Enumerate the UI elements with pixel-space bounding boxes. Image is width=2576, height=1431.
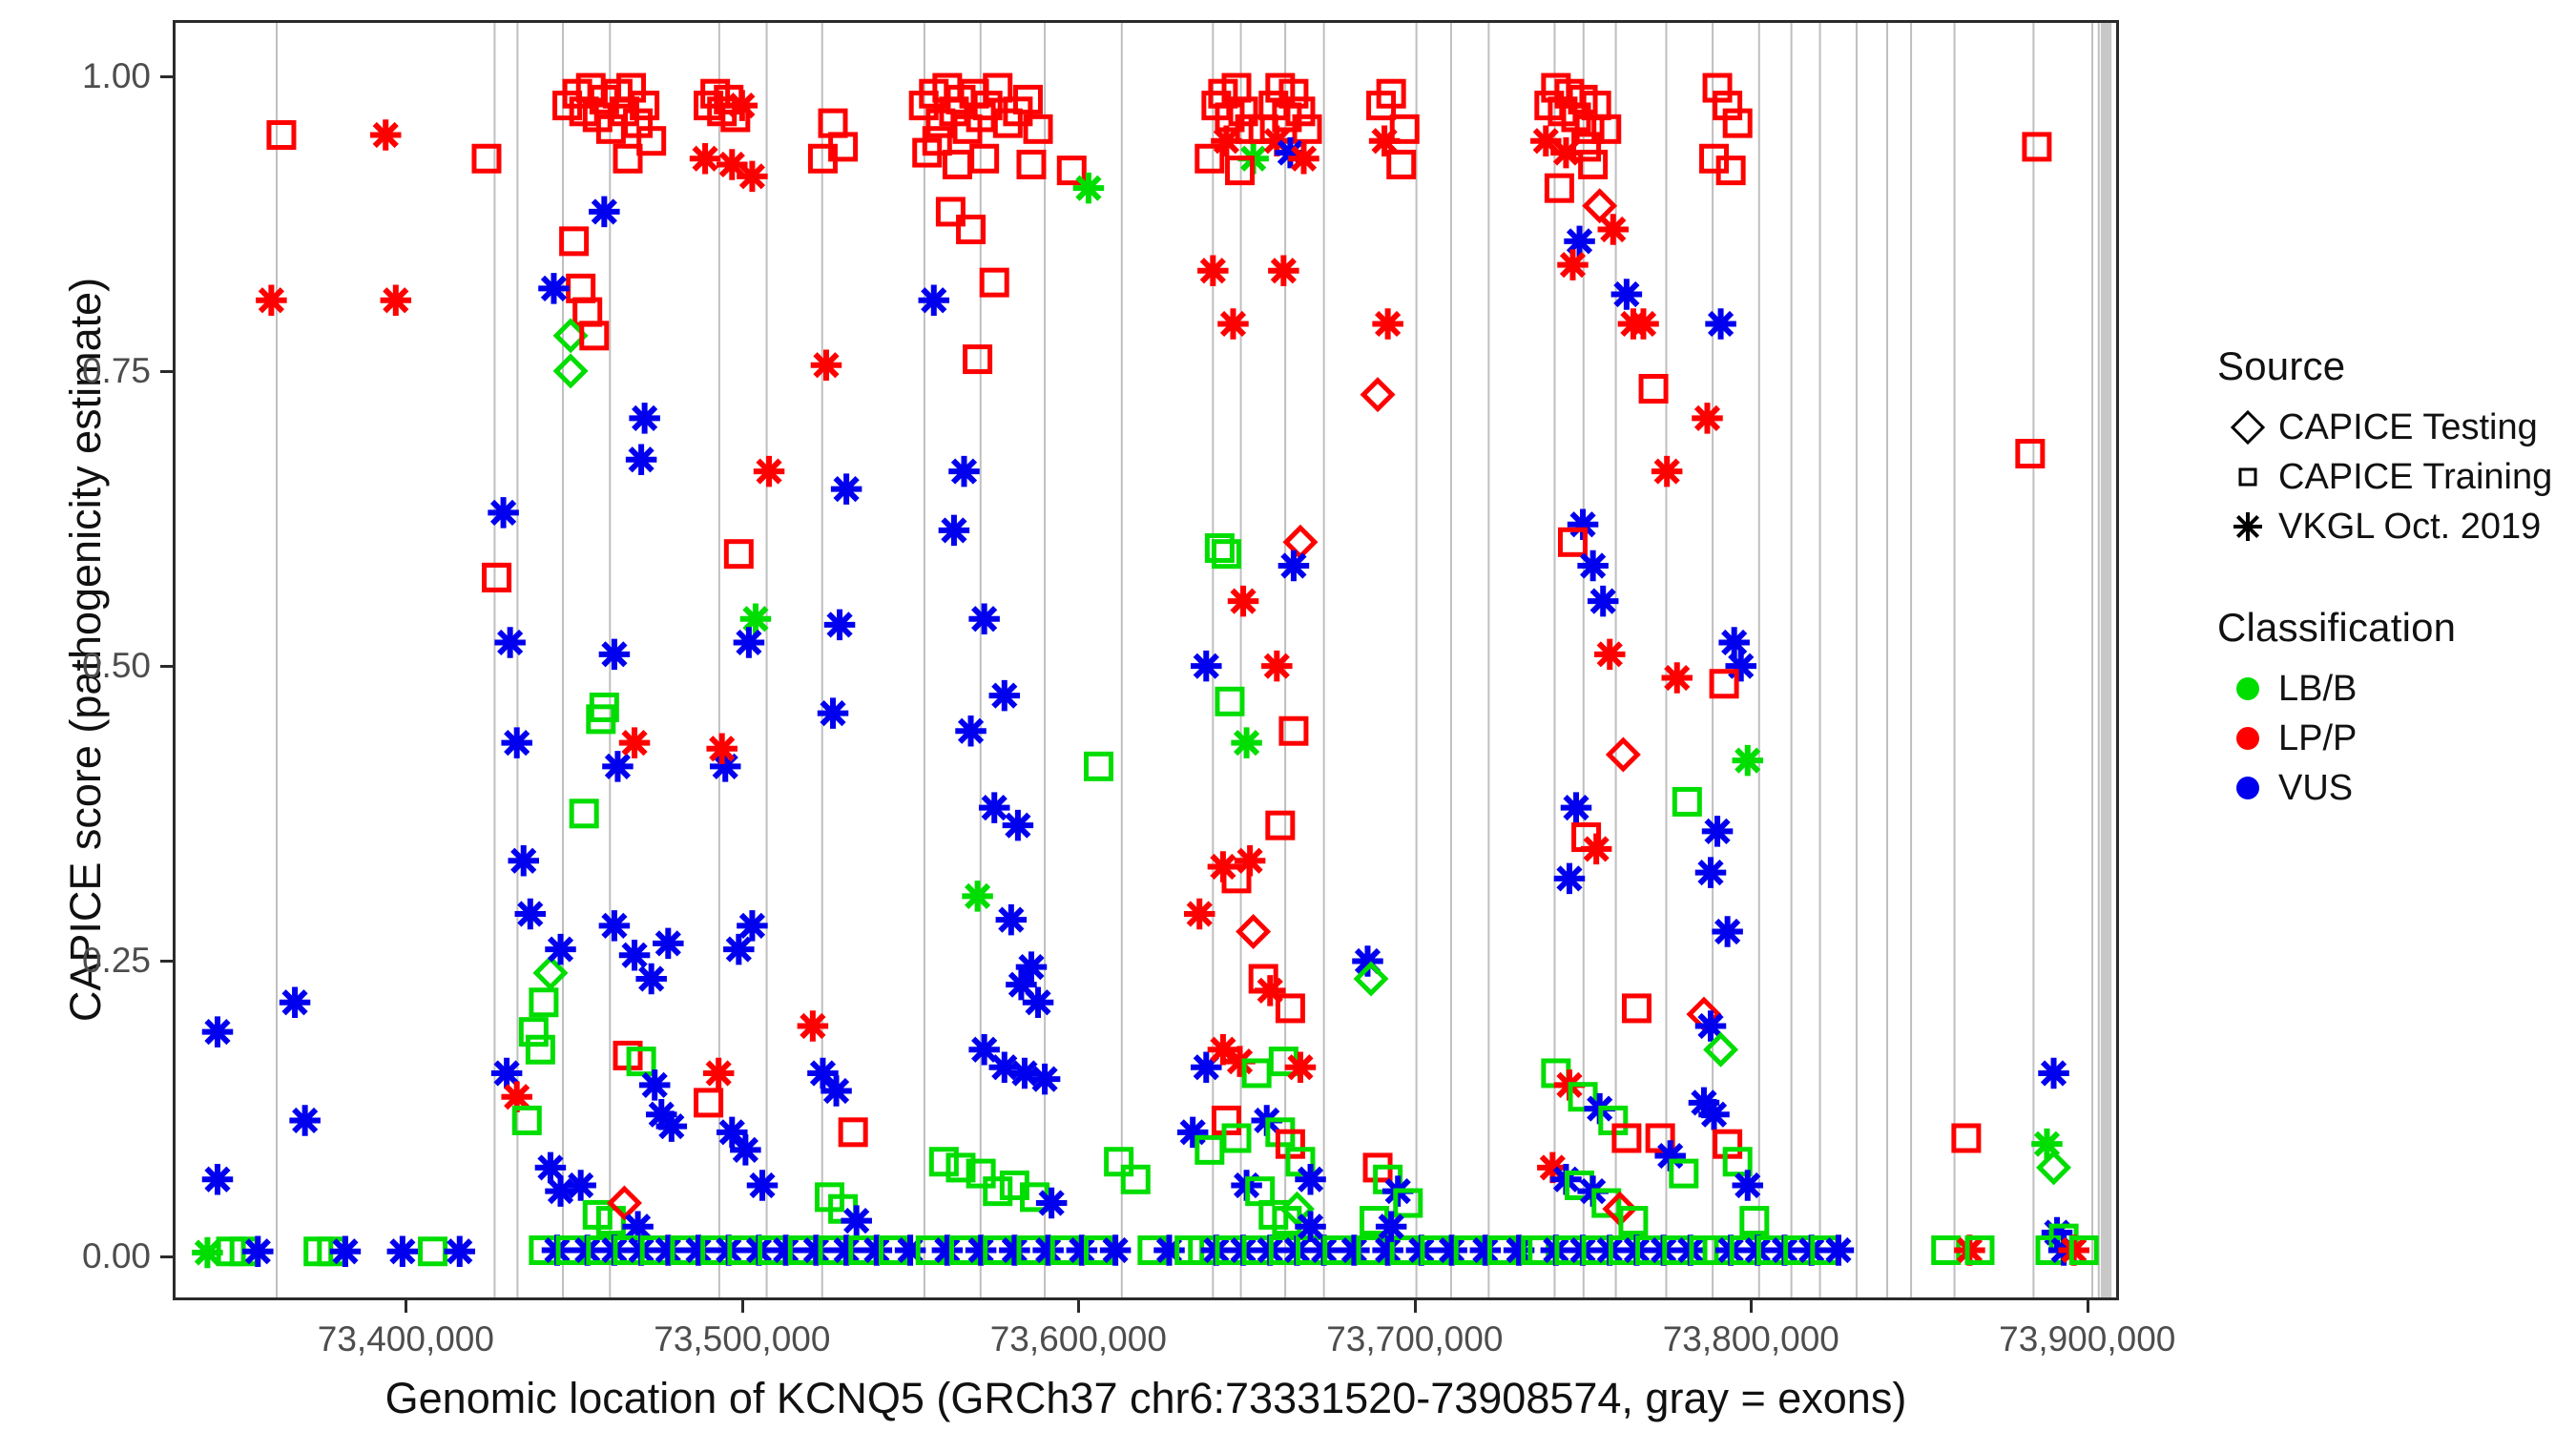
y-tick-mark <box>160 370 173 373</box>
scatter-point <box>531 990 556 1015</box>
scatter-point <box>521 1020 546 1045</box>
scatter-point <box>569 276 593 301</box>
scatter-point <box>1217 689 1242 714</box>
scatter-point <box>706 734 737 765</box>
scatter-point <box>599 910 631 942</box>
scatter-point <box>1672 1161 1696 1186</box>
scatter-point <box>727 90 758 121</box>
scatter-point <box>619 940 651 971</box>
scatter-point <box>1239 918 1268 946</box>
x-tick-label: 73,600,000 <box>935 1321 1221 1357</box>
x-tick-label: 73,900,000 <box>1944 1321 2231 1357</box>
scatter-point <box>1611 279 1643 310</box>
scatter-point <box>1598 214 1630 245</box>
scatter-point <box>1577 550 1609 582</box>
scatter-point <box>1073 173 1105 204</box>
scatter-point <box>703 1058 735 1089</box>
square-icon <box>2226 455 2270 499</box>
scatter-point <box>1278 550 1310 582</box>
scatter-point <box>831 473 862 505</box>
legend-item[interactable]: VUS <box>2217 763 2576 813</box>
scatter-point <box>1588 586 1619 617</box>
legend-key <box>2217 716 2278 760</box>
scatter-point <box>1695 857 1727 888</box>
scatter-point <box>1652 456 1683 487</box>
scatter-point <box>1392 116 1417 141</box>
scatter-point <box>1295 1164 1326 1195</box>
scatter-point <box>575 300 600 324</box>
legend-key <box>2217 766 2278 810</box>
chart-legend: SourceCAPICE TestingCAPICE TrainingVKGL … <box>2194 343 2576 866</box>
scatter-point <box>602 751 634 782</box>
y-tick-mark <box>160 960 173 963</box>
y-tick-label: 0.25 <box>0 943 151 978</box>
scatter-point <box>1255 975 1286 1006</box>
y-tick-mark <box>160 1255 173 1258</box>
legend-group-source: SourceCAPICE TestingCAPICE TrainingVKGL … <box>2194 343 2576 551</box>
dot-icon <box>2226 716 2270 760</box>
scatter-point <box>968 603 1000 634</box>
scatter-point <box>1823 1234 1855 1266</box>
scatter-point <box>1586 192 1614 220</box>
scatter-point <box>1641 376 1666 401</box>
scatter-point <box>1954 1126 1979 1151</box>
x-tick-mark <box>405 1300 407 1313</box>
scatter-point <box>1184 899 1215 930</box>
scatter-point <box>653 928 684 960</box>
scatter-point <box>571 801 596 826</box>
scatter-point <box>945 152 969 176</box>
scatter-point <box>1554 863 1586 895</box>
scatter-point <box>747 1170 779 1201</box>
scatter-point <box>1003 810 1034 841</box>
scatter-point <box>1564 226 1595 258</box>
scatter-point <box>1261 651 1293 682</box>
scatter-point <box>737 161 768 193</box>
legend-item-label: VUS <box>2278 768 2353 809</box>
scatter-point <box>1107 1150 1132 1174</box>
scatter-point <box>726 542 751 567</box>
scatter-point <box>538 273 570 304</box>
legend-key <box>2217 405 2278 449</box>
scatter-point <box>1295 1212 1326 1243</box>
scatter-point <box>1712 916 1743 947</box>
scatter-point <box>1372 308 1403 340</box>
scatter-point <box>202 1164 234 1195</box>
scatter-point <box>1268 256 1299 287</box>
scatter-point <box>1036 1188 1068 1219</box>
scatter-point <box>615 146 640 171</box>
legend-group-classification: ClassificationLB/BLP/PVUS <box>2194 605 2576 813</box>
legend-item-label: CAPICE Training <box>2278 457 2552 498</box>
scatter-point <box>256 284 287 316</box>
legend-item[interactable]: VKGL Oct. 2019 <box>2217 502 2576 551</box>
scatter-point <box>494 627 526 658</box>
legend-item[interactable]: LP/P <box>2217 714 2576 763</box>
scatter-point <box>996 904 1028 936</box>
x-tick-mark <box>1414 1300 1417 1313</box>
scatter-point <box>811 349 842 381</box>
plot-area <box>173 20 2119 1300</box>
scatter-point <box>626 444 657 475</box>
legend-key <box>2217 505 2278 549</box>
legend-item-label: CAPICE Testing <box>2278 407 2538 448</box>
x-tick-mark <box>1077 1300 1080 1313</box>
scatter-point <box>798 1010 829 1042</box>
chart-page: CAPICE score (pathogenicity estimate) 0.… <box>0 0 2576 1431</box>
scatter-point <box>1725 651 1756 682</box>
scatter-point <box>919 284 950 316</box>
scatter-point <box>1389 152 1414 176</box>
diamond-icon <box>2226 405 2270 449</box>
scatter-point <box>1231 727 1262 758</box>
scatter-point <box>1268 813 1293 838</box>
scatter-canvas <box>176 23 2116 1297</box>
scatter-point <box>1019 152 1044 176</box>
scatter-point <box>1191 651 1222 682</box>
scatter-point <box>754 456 785 487</box>
scatter-point <box>2018 442 2043 467</box>
scatter-point <box>2040 1153 2068 1182</box>
x-tick-label: 73,700,000 <box>1272 1321 1558 1357</box>
scatter-point <box>1557 249 1589 280</box>
scatter-point <box>1086 754 1111 778</box>
scatter-point <box>589 197 620 228</box>
scatter-point <box>841 1120 865 1145</box>
scatter-point <box>734 627 765 658</box>
dot-icon <box>2226 766 2270 810</box>
scatter-point <box>989 680 1021 712</box>
scatter-point <box>1628 308 1659 340</box>
y-tick-label: 0.00 <box>0 1238 151 1274</box>
x-axis-title: Genomic location of KCNQ5 (GRCh37 chr6:7… <box>173 1374 2119 1423</box>
scatter-point <box>723 934 755 965</box>
scatter-point <box>1285 1052 1317 1084</box>
scatter-point <box>1594 639 1626 671</box>
scatter-point <box>824 610 856 641</box>
scatter-point <box>2038 1058 2069 1089</box>
scatter-point <box>1547 176 1571 200</box>
y-tick-mark <box>160 665 173 668</box>
x-tick-label: 73,400,000 <box>262 1321 549 1357</box>
scatter-point <box>562 229 587 254</box>
x-tick-mark <box>1750 1300 1753 1313</box>
scatter-point <box>528 1037 552 1062</box>
scatter-point <box>1228 586 1259 617</box>
scatter-point <box>1624 996 1649 1021</box>
scatter-point <box>1698 1099 1730 1130</box>
exon-band <box>2101 23 2111 1297</box>
scatter-point <box>948 456 980 487</box>
x-tick-mark <box>2087 1300 2089 1313</box>
scatter-point <box>1550 137 1582 169</box>
scatter-point <box>1742 1209 1767 1234</box>
scatter-point <box>269 123 294 148</box>
scatter-point <box>979 792 1010 823</box>
scatter-point <box>545 934 576 965</box>
legend-title-classification: Classification <box>2217 605 2576 651</box>
scatter-point <box>1235 845 1266 877</box>
scatter-point <box>387 1236 419 1268</box>
scatter-point <box>619 727 651 758</box>
legend-item[interactable]: CAPICE Testing <box>2217 403 2576 452</box>
scatter-point <box>280 986 311 1018</box>
scatter-point <box>2025 135 2049 159</box>
scatter-point <box>289 1105 321 1136</box>
scatter-point <box>1733 745 1764 777</box>
scatter-point <box>635 964 667 995</box>
scatter-point <box>1288 143 1319 175</box>
scatter-point <box>1123 1167 1148 1192</box>
scatter-point <box>639 1069 671 1101</box>
scatter-point <box>330 1236 362 1268</box>
y-tick-label: 0.75 <box>0 353 151 388</box>
scatter-point <box>1561 792 1592 823</box>
scatter-point <box>599 639 631 671</box>
scatter-point <box>1702 816 1734 847</box>
legend-item-label: LP/P <box>2278 718 2357 759</box>
scatter-point <box>1286 528 1315 556</box>
scatter-point <box>1197 256 1229 287</box>
scatter-point <box>1718 627 1750 658</box>
scatter-point <box>818 697 849 729</box>
x-tick-label: 73,500,000 <box>599 1321 885 1357</box>
legend-item-label: VKGL Oct. 2019 <box>2278 507 2541 548</box>
scatter-point <box>508 845 539 877</box>
scatter-point <box>1363 381 1392 409</box>
scatter-point <box>1733 1170 1764 1201</box>
x-tick-mark <box>741 1300 744 1313</box>
scatter-point <box>1662 662 1693 694</box>
y-tick-mark <box>160 75 173 78</box>
scatter-point <box>445 1236 476 1268</box>
dot-icon <box>2226 667 2270 711</box>
scatter-point <box>939 515 970 547</box>
scatter-point <box>841 1205 872 1236</box>
scatter-point <box>202 1016 234 1047</box>
scatter-point <box>1376 1212 1407 1243</box>
scatter-point <box>242 1236 274 1268</box>
scatter-point <box>1692 403 1723 434</box>
scatter-point <box>690 143 721 175</box>
scatter-point <box>485 565 509 590</box>
legend-item[interactable]: LB/B <box>2217 664 2576 714</box>
scatter-point <box>740 603 772 634</box>
scatter-point <box>821 1075 852 1107</box>
scatter-point <box>962 881 992 912</box>
legend-item[interactable]: CAPICE Training <box>2217 452 2576 502</box>
scatter-point <box>515 899 547 930</box>
scatter-point <box>1705 308 1736 340</box>
scatter-point <box>556 357 585 385</box>
scatter-point <box>501 727 532 758</box>
scatter-point <box>1217 308 1249 340</box>
scatter-point <box>1023 986 1054 1018</box>
scatter-point <box>1177 1117 1209 1149</box>
asterisk-icon <box>2226 505 2270 549</box>
scatter-point <box>488 497 519 529</box>
legend-key <box>2217 455 2278 499</box>
scatter-point <box>1581 834 1612 865</box>
scatter-point <box>1029 1064 1061 1095</box>
scatter-point <box>629 403 660 434</box>
scatter-point <box>821 111 845 135</box>
scatter-point <box>730 1134 761 1166</box>
scatter-point <box>1100 1234 1132 1266</box>
scatter-point <box>370 119 402 151</box>
scatter-point <box>955 715 986 747</box>
scatter-point <box>966 347 990 372</box>
x-tick-label: 73,800,000 <box>1608 1321 1894 1357</box>
scatter-point <box>972 146 997 171</box>
scatter-point <box>1211 125 1242 156</box>
legend-title-source: Source <box>2217 343 2576 389</box>
scatter-point <box>565 1170 596 1201</box>
scatter-point <box>1674 789 1699 814</box>
y-tick-label: 0.50 <box>0 648 151 683</box>
scatter-point <box>696 1090 721 1115</box>
y-tick-label: 1.00 <box>0 58 151 93</box>
scatter-point <box>1609 740 1637 769</box>
scatter-point <box>381 284 412 316</box>
legend-key <box>2217 667 2278 711</box>
legend-item-label: LB/B <box>2278 669 2357 710</box>
scatter-point <box>982 270 1007 295</box>
scatter-point <box>421 1239 446 1264</box>
scatter-point <box>656 1110 688 1142</box>
scatter-point <box>485 565 509 590</box>
